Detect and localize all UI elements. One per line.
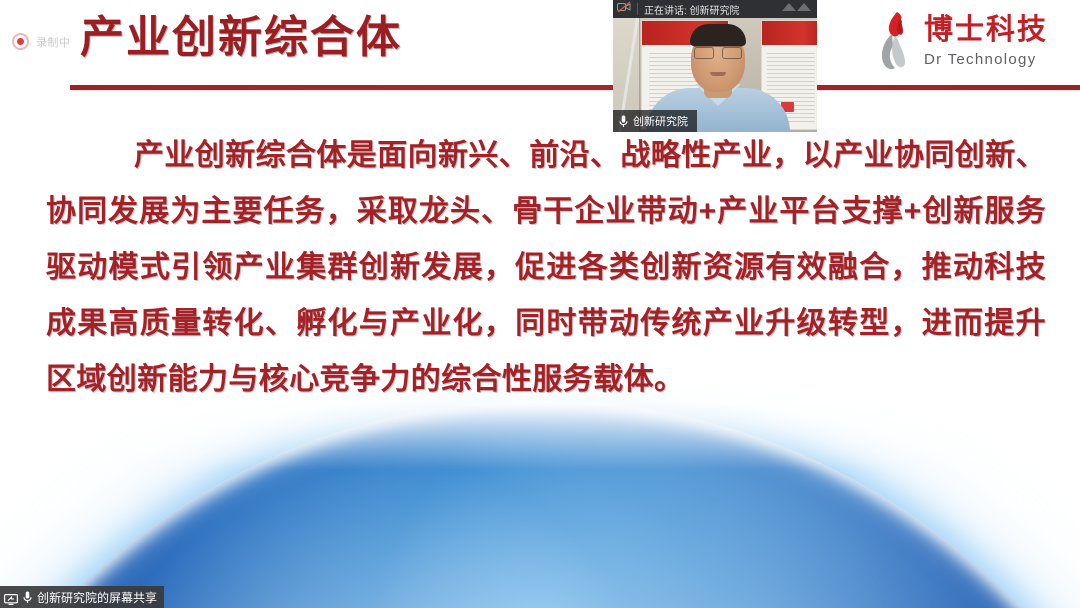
microphone-icon — [23, 591, 32, 604]
brand-name-cn: 博士科技 — [924, 16, 1048, 45]
brand-name-en: Dr Technology — [924, 52, 1037, 67]
active-speaker-label: 正在讲话: 创新研究院 — [644, 2, 740, 17]
slide-body-text: 产业创新综合体是面向新兴、前沿、战略性产业，以产业协同创新、协同发展为主要任务，… — [46, 128, 1046, 408]
speaker-name-label: 创新研究院 — [633, 113, 688, 129]
earth-globe-artwork — [0, 378, 1080, 608]
globe-sphere — [0, 400, 1080, 608]
flame-torch-icon — [874, 10, 914, 72]
record-dot-icon — [12, 33, 29, 50]
person-glasses — [694, 46, 742, 58]
video-muted-icon — [617, 0, 631, 18]
video-frame: 创新研究院 — [613, 18, 817, 132]
globe-rim-highlight — [0, 400, 1080, 608]
topbar-divider — [637, 3, 638, 15]
microphone-icon — [619, 115, 628, 128]
globe-clouds — [0, 400, 1080, 608]
screen-share-label: 创新研究院的屏幕共享 — [37, 589, 157, 606]
video-tile-topbar: 正在讲话: 创新研究院 — [613, 0, 817, 18]
chevron-up-icon[interactable] — [782, 3, 811, 11]
recording-label: 录制中 — [36, 34, 71, 50]
person-mouth — [710, 72, 726, 76]
recording-indicator: 录制中 — [12, 33, 71, 50]
screen-share-icon — [4, 592, 18, 603]
slide-title: 产业创新综合体 — [80, 16, 402, 60]
presentation-slide: 录制中 产业创新综合体 博士科技 Dr Technology — [0, 0, 1080, 608]
screen-share-status-bar: 创新研究院的屏幕共享 — [0, 586, 164, 608]
title-underline-rule — [70, 85, 1080, 90]
brand-logo-text: 博士科技 Dr Technology — [924, 16, 1048, 67]
participant-video-tile[interactable]: 正在讲话: 创新研究院 — [613, 0, 817, 132]
person-hair — [690, 24, 746, 46]
brand-logo: 博士科技 Dr Technology — [874, 10, 1048, 72]
